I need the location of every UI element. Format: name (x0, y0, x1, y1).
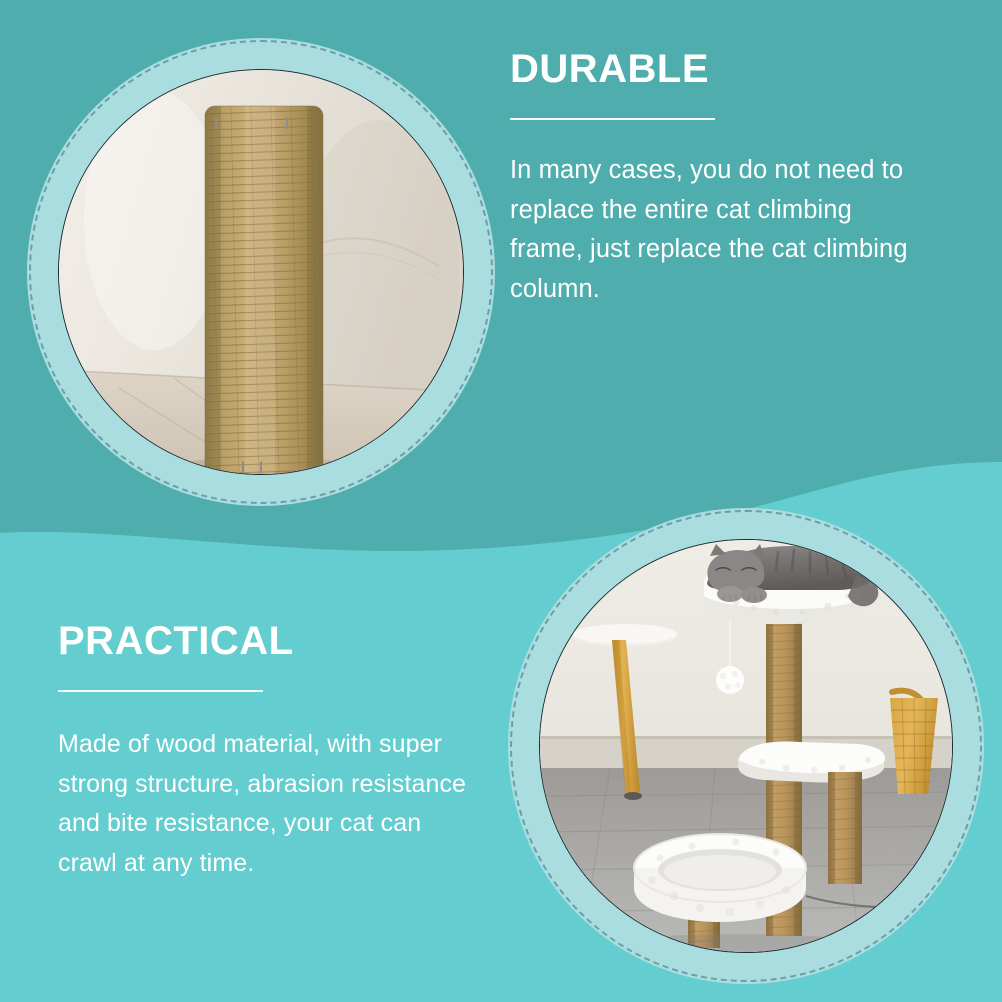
feature-body-durable: In many cases, you do not need to replac… (510, 151, 930, 309)
feature-body-practical: Made of wood material, with super strong… (58, 725, 478, 883)
title-divider-practical (58, 690, 263, 692)
feature-block-durable: DURABLE In many cases, you do not need t… (510, 48, 930, 309)
photo-cat-tree-with-cat (539, 539, 953, 953)
feature-title-practical: PRACTICAL (58, 620, 478, 662)
feature-title-durable: DURABLE (510, 48, 930, 90)
title-divider-durable (510, 118, 715, 120)
photo-frame-cat-tree (508, 508, 984, 984)
photo-sisal-column (58, 69, 464, 475)
feature-poster: DURABLE In many cases, you do not need t… (0, 0, 1002, 1002)
feature-block-practical: PRACTICAL Made of wood material, with su… (58, 620, 478, 883)
photo-frame-sisal-column (27, 38, 495, 506)
